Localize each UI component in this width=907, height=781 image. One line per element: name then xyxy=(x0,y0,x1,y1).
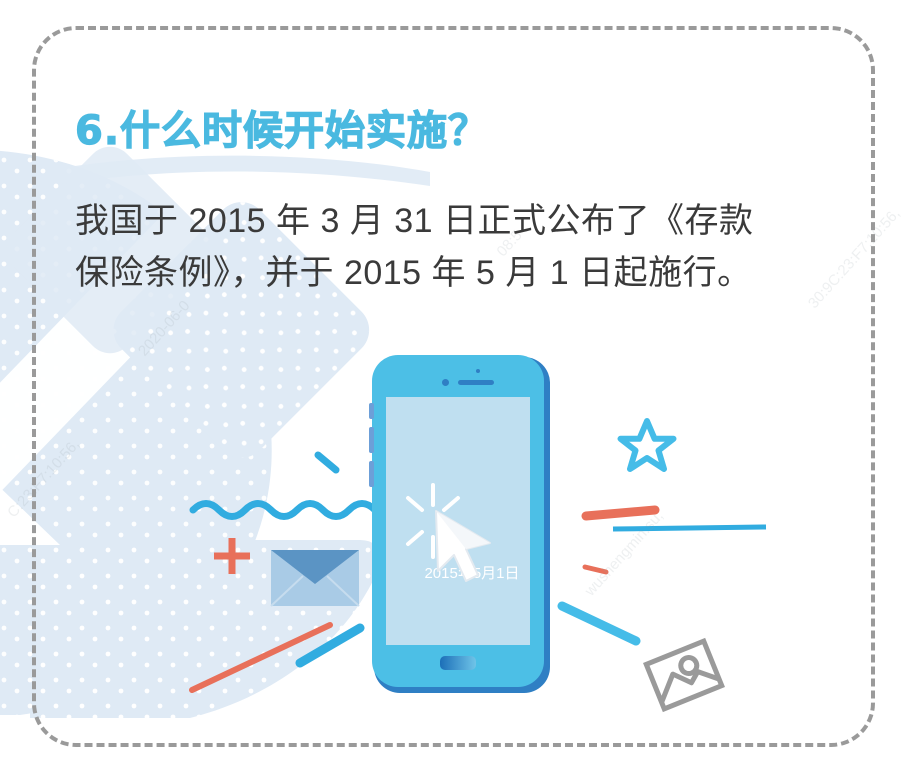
image-placeholder-icon xyxy=(646,641,721,709)
screen-graphics-svg xyxy=(386,397,530,645)
body-line: 我国于 2015 年 3 月 31 日正式公布了《存款 xyxy=(75,195,875,247)
phone-screen: 2015年5月1日 xyxy=(386,397,530,645)
phone-camera-icon xyxy=(442,379,449,386)
page-title: 6.什么时候开始实施？ xyxy=(75,98,489,156)
phone-volume-down-button xyxy=(369,461,374,487)
phone-volume-up-button xyxy=(369,427,374,453)
phone-home-button xyxy=(440,656,476,670)
mouse-cursor-arrow xyxy=(436,511,490,581)
blue-tick-small xyxy=(318,455,336,470)
phone-illustration: 2015年5月1日 xyxy=(372,355,552,695)
star-outline-icon xyxy=(621,421,674,469)
blue-line-long-right xyxy=(613,527,766,529)
coral-bar-right xyxy=(586,510,655,516)
body-paragraph: 我国于 2015 年 3 月 31 日正式公布了《存款 保险条例》，并于 201… xyxy=(75,195,875,299)
phone-body: 2015年5月1日 xyxy=(372,355,544,687)
phone-speaker-bar xyxy=(458,380,494,385)
coral-dash-tiny xyxy=(585,567,606,572)
phone-sensor-dot xyxy=(476,369,480,373)
phone-side-button xyxy=(369,403,374,419)
blue-diagonal-right xyxy=(562,606,636,641)
envelope-icon xyxy=(271,550,359,606)
body-line: 保险条例》，并于 2015 年 5 月 1 日起施行。 xyxy=(75,247,875,299)
infographic-card: C:23:F7:10:56, 2020-06-0 08:5 wushengmin… xyxy=(0,0,907,781)
